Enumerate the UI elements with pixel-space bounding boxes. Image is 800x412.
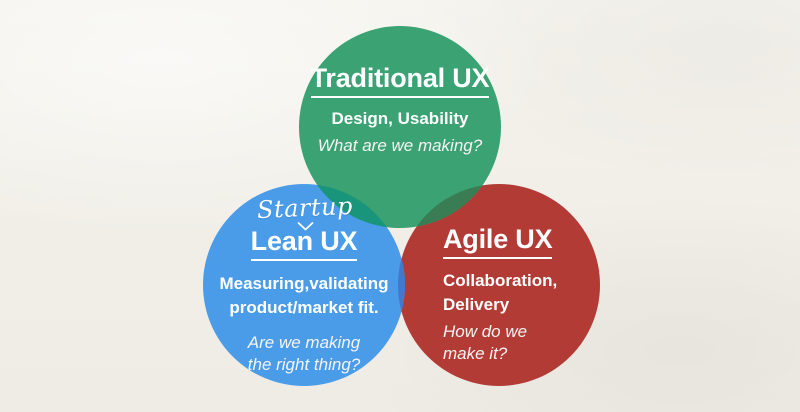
question-agile-ux-line2: make it? (443, 343, 615, 365)
question-agile-ux: How do we make it? (443, 321, 615, 365)
keywords-lean-ux-line2: product/market fit. (196, 296, 412, 320)
keywords-agile-ux-line1: Collaboration, (443, 269, 615, 293)
question-lean-ux-line1: Are we making (196, 332, 412, 354)
keywords-agile-ux-line2: Delivery (443, 293, 615, 317)
label-lean-ux: Lean UX Measuring,validating product/mar… (196, 227, 412, 376)
question-lean-ux: Are we making the right thing? (196, 332, 412, 376)
heading-agile-ux: Agile UX (443, 225, 552, 259)
question-agile-ux-line1: How do we (443, 321, 615, 343)
keywords-lean-ux: Measuring,validating product/market fit. (196, 272, 412, 320)
heading-lean-ux: Lean UX (251, 227, 358, 261)
heading-traditional-ux: Traditional UX (311, 64, 490, 98)
question-lean-ux-line2: the right thing? (196, 354, 412, 376)
label-agile-ux: Agile UX Collaboration, Delivery How do … (443, 225, 615, 365)
keywords-agile-ux: Collaboration, Delivery (443, 269, 615, 317)
venn-diagram-canvas: Traditional UX Design, Usability What ar… (0, 0, 800, 412)
keywords-traditional-ux: Design, Usability (300, 107, 500, 131)
question-traditional-ux: What are we making? (300, 135, 500, 157)
keywords-lean-ux-line1: Measuring,validating (196, 272, 412, 296)
label-traditional-ux: Traditional UX Design, Usability What ar… (300, 64, 500, 157)
